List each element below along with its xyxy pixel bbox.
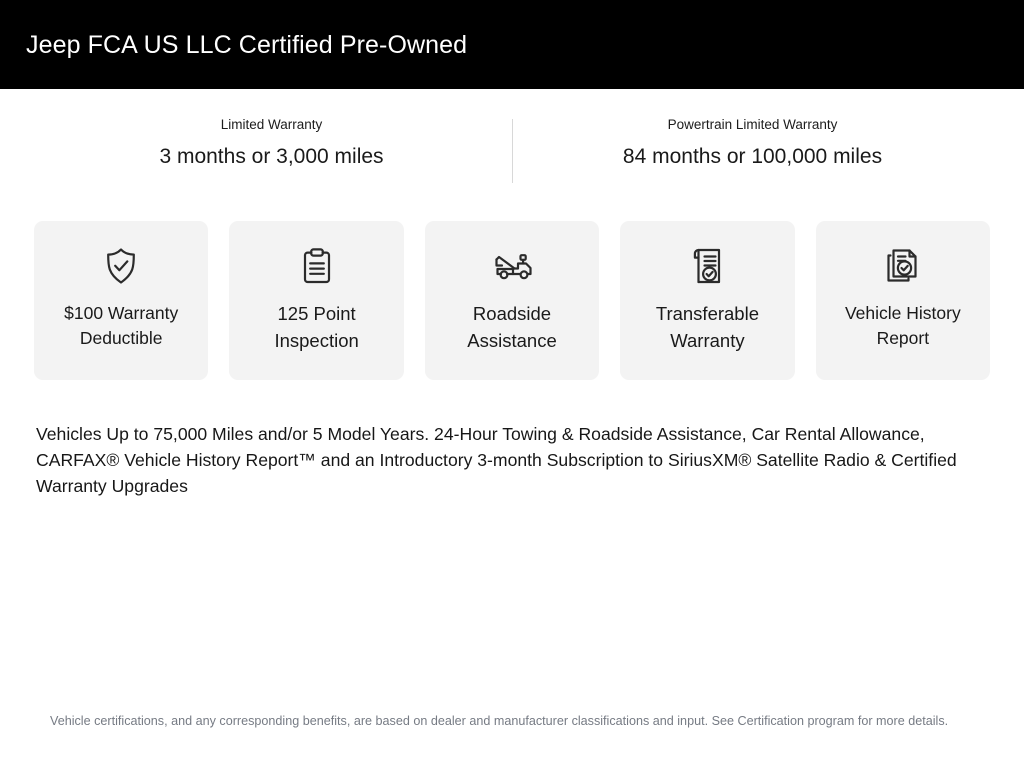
- powertrain-warranty-block: Powertrain Limited Warranty 84 months or…: [513, 115, 993, 191]
- warranty-summary: Limited Warranty 3 months or 3,000 miles…: [0, 89, 1024, 201]
- tow-truck-icon: [488, 243, 536, 289]
- certificate-check-icon: [685, 243, 729, 289]
- powertrain-warranty-label: Powertrain Limited Warranty: [521, 115, 985, 135]
- shield-check-icon: [99, 243, 143, 289]
- limited-warranty-value: 3 months or 3,000 miles: [40, 143, 504, 170]
- feature-card-point-inspection[interactable]: 125 Point Inspection: [229, 221, 403, 380]
- documents-check-icon: [880, 243, 926, 289]
- feature-card-label: $100 Warranty Deductible: [34, 301, 208, 352]
- feature-card-label: Transferable Warranty: [620, 301, 794, 355]
- feature-card-label: 125 Point Inspection: [229, 301, 403, 355]
- feature-card-label: Roadside Assistance: [425, 301, 599, 355]
- certification-disclaimer: Vehicle certifications, and any correspo…: [50, 712, 980, 732]
- program-description: Vehicles Up to 75,000 Miles and/or 5 Mod…: [36, 422, 988, 500]
- clipboard-icon: [295, 243, 339, 289]
- feature-cards: $100 Warranty Deductible 125 Point Inspe…: [0, 201, 1024, 380]
- feature-card-transferable-warranty[interactable]: Transferable Warranty: [620, 221, 794, 380]
- limited-warranty-block: Limited Warranty 3 months or 3,000 miles: [32, 115, 512, 191]
- limited-warranty-label: Limited Warranty: [40, 115, 504, 135]
- page-title: Jeep FCA US LLC Certified Pre-Owned: [26, 30, 467, 60]
- feature-card-label: Vehicle History Report: [816, 301, 990, 352]
- feature-card-vehicle-history-report[interactable]: Vehicle History Report: [816, 221, 990, 380]
- page-header: Jeep FCA US LLC Certified Pre-Owned: [0, 0, 1024, 89]
- feature-card-roadside-assistance[interactable]: Roadside Assistance: [425, 221, 599, 380]
- powertrain-warranty-value: 84 months or 100,000 miles: [521, 143, 985, 170]
- feature-card-warranty-deductible[interactable]: $100 Warranty Deductible: [34, 221, 208, 380]
